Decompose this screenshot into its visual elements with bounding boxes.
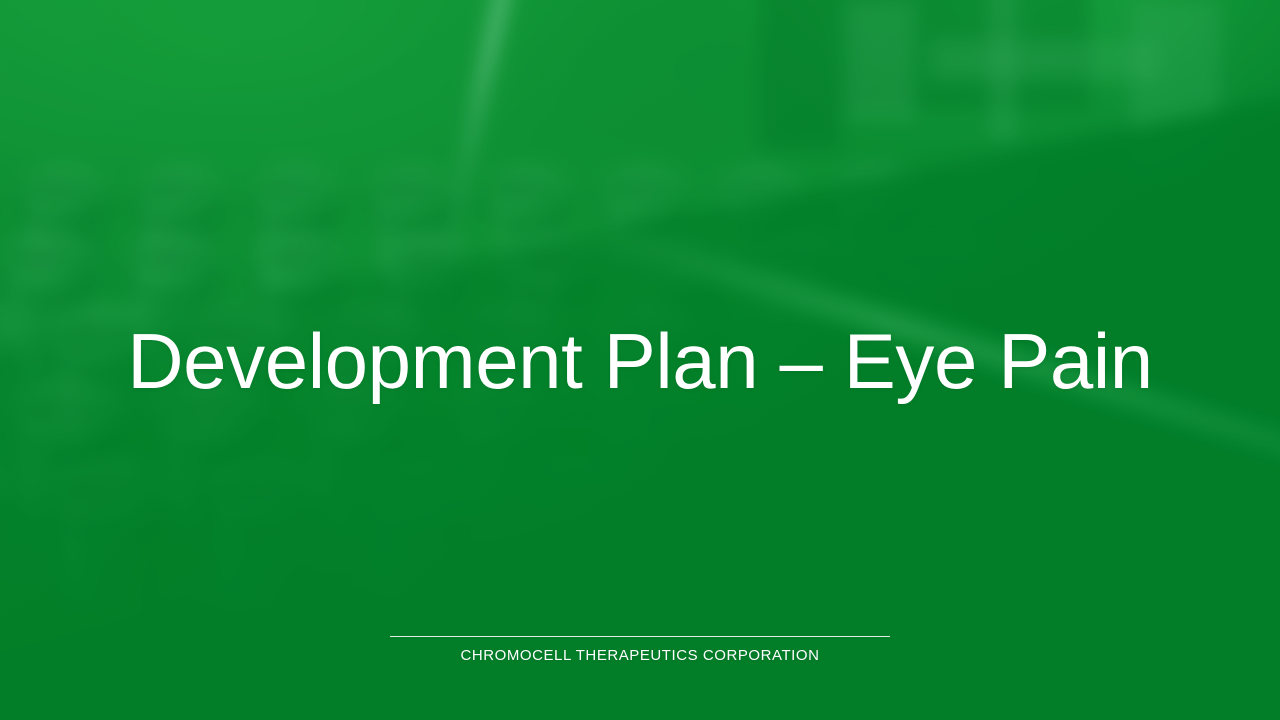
slide-content: Development Plan – Eye Pain CHROMOCELL T… xyxy=(0,0,1280,720)
slide-subtitle: CHROMOCELL THERAPEUTICS CORPORATION xyxy=(0,647,1280,665)
slide-title: Development Plan – Eye Pain xyxy=(0,320,1280,403)
title-slide: Development Plan – Eye Pain CHROMOCELL T… xyxy=(0,0,1280,720)
subtitle-divider xyxy=(390,636,890,637)
subtitle-group: CHROMOCELL THERAPEUTICS CORPORATION xyxy=(0,636,1280,665)
